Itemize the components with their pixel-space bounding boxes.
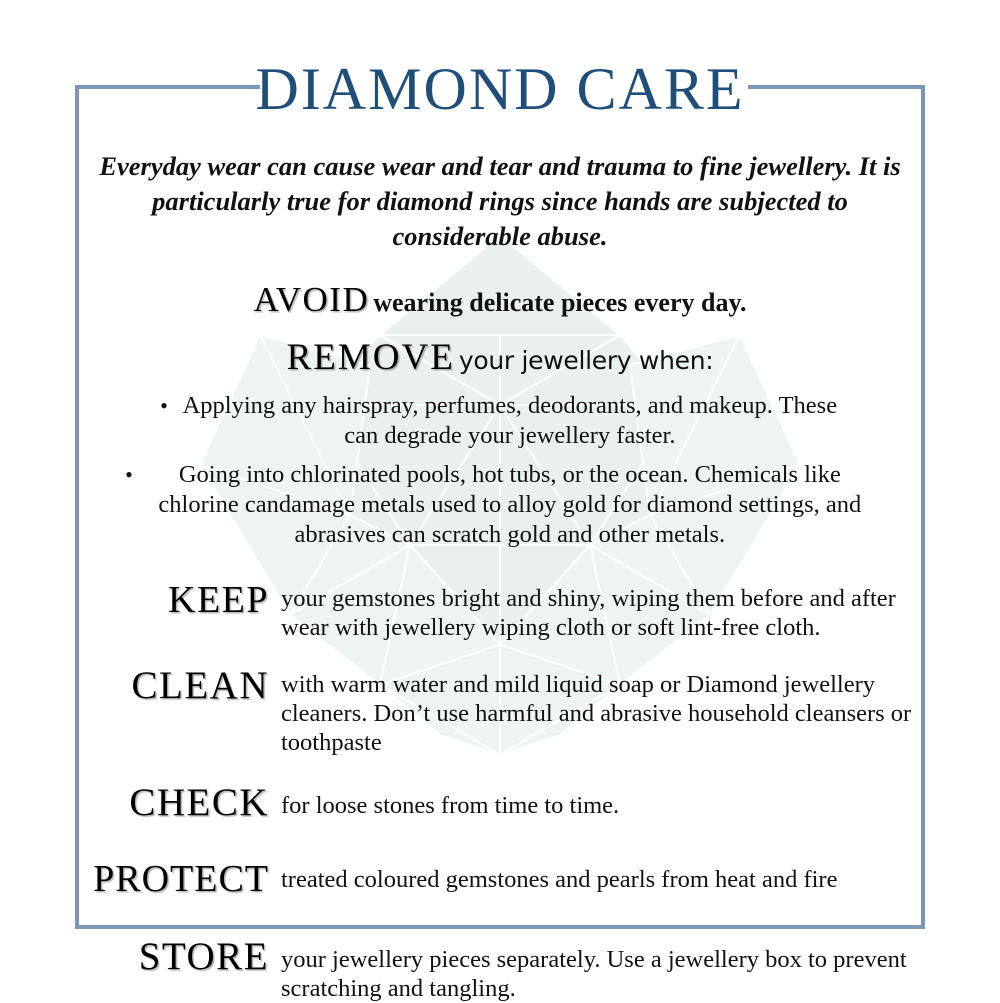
avoid-keyword: AVOID — [253, 280, 369, 319]
protect-body: treated coloured gemstones and pearls fr… — [281, 859, 921, 894]
avoid-line: AVOID wearing delicate pieces every day. — [79, 280, 921, 320]
diamond-care-poster: DIAMOND CARE Everyday wear can cause wea… — [0, 0, 1000, 1000]
frame-right-rule — [921, 85, 925, 929]
bullet-icon: • — [160, 391, 168, 421]
keep-body: your gemstones bright and shiny, wiping … — [281, 580, 921, 642]
poster-content: Everyday wear can cause wear and tear an… — [79, 122, 921, 1003]
page-title: DIAMOND CARE — [0, 58, 1000, 120]
remove-keyword: REMOVE — [287, 337, 455, 378]
section-store: STORE your jewellery pieces separately. … — [79, 937, 921, 1003]
avoid-body: wearing delicate pieces every day. — [373, 288, 746, 317]
store-keyword: STORE — [79, 937, 281, 977]
store-body: your jewellery pieces separately. Use a … — [281, 937, 921, 1003]
list-item: • Applying any hairspray, perfumes, deod… — [79, 391, 921, 451]
bullet-icon: • — [125, 460, 133, 490]
keep-keyword: KEEP — [79, 580, 281, 620]
clean-body: with warm water and mild liquid soap or … — [281, 666, 921, 757]
remove-bullet-list: • Applying any hairspray, perfumes, deod… — [79, 391, 921, 550]
protect-keyword: PROTECT — [79, 859, 281, 899]
list-item: • Going into chlorinated pools, hot tubs… — [79, 460, 921, 550]
intro-paragraph: Everyday wear can cause wear and tear an… — [79, 149, 921, 254]
section-keep: KEEP your gemstones bright and shiny, wi… — [79, 580, 921, 642]
remove-line: REMOVE your jewellery when: — [79, 336, 921, 379]
section-check: CHECK for loose stones from time to time… — [79, 783, 921, 823]
check-body: for loose stones from time to time. — [281, 783, 921, 820]
check-keyword: CHECK — [79, 783, 281, 823]
section-protect: PROTECT treated coloured gemstones and p… — [79, 859, 921, 899]
remove-body: your jewellery when: — [459, 346, 714, 375]
list-item-text: Applying any hairspray, perfumes, deodor… — [180, 391, 840, 451]
clean-keyword: CLEAN — [79, 666, 281, 706]
list-item-text: Going into chlorinated pools, hot tubs, … — [145, 460, 875, 550]
section-clean: CLEAN with warm water and mild liquid so… — [79, 666, 921, 757]
